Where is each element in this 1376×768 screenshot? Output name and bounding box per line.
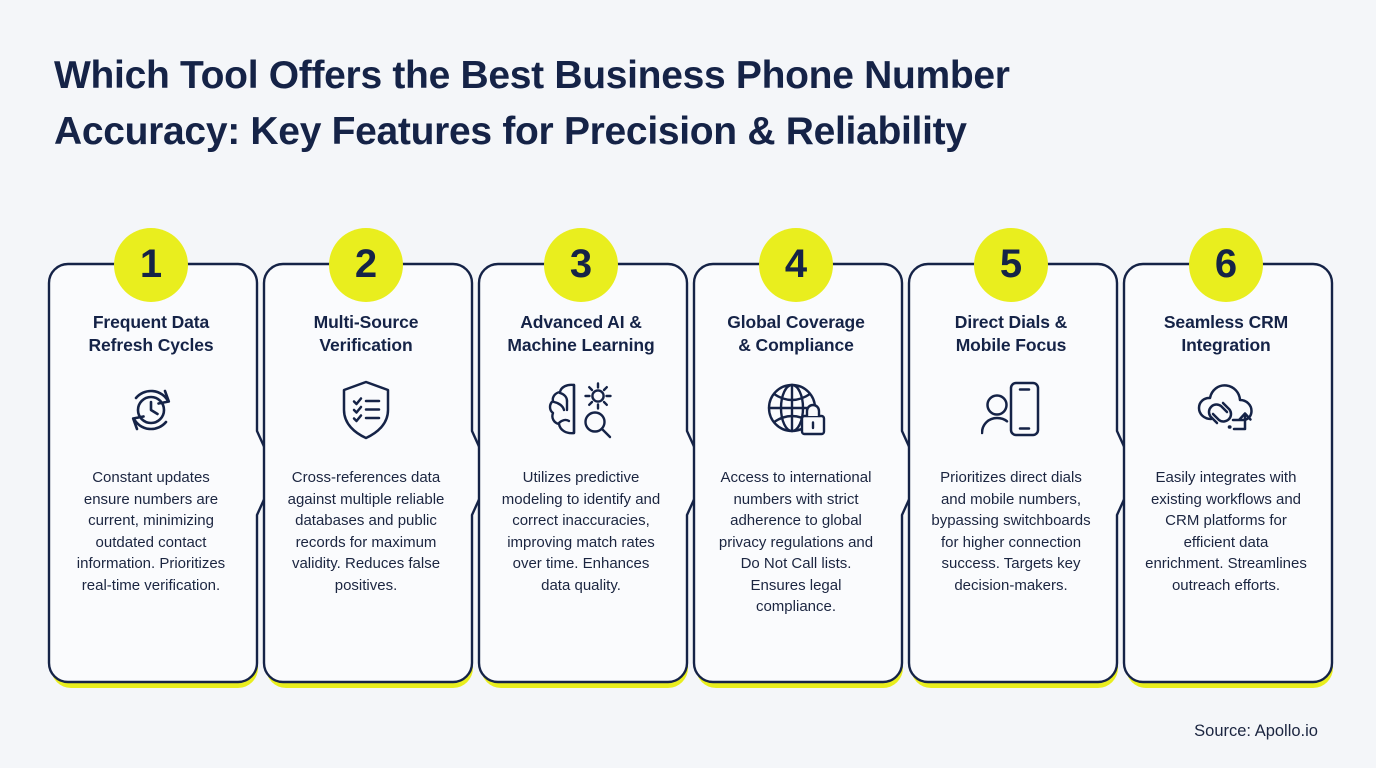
card-description: Utilizes predictive modeling to identify… — [498, 467, 664, 596]
feature-card-row: Frequent Data Refresh Cycles Constant up… — [48, 263, 1329, 683]
card-number: 1 — [140, 244, 162, 284]
brain-gear-search-icon — [547, 379, 615, 441]
card-number-badge: 6 — [1189, 228, 1263, 302]
card-title-line-1: Direct Dials & — [955, 312, 1067, 332]
card-title-line-2: Refresh Cycles — [88, 335, 213, 355]
card-description: Prioritizes direct dials and mobile numb… — [928, 467, 1094, 596]
card-description: Constant updates ensure numbers are curr… — [68, 467, 234, 596]
card-title-line-2: & Compliance — [738, 335, 854, 355]
person-smartphone-icon — [981, 379, 1041, 441]
card-title: Multi-Source Verification — [314, 311, 419, 357]
feature-card-2[interactable]: Multi-Source Verification Cross-referenc… — [263, 263, 469, 683]
card-title-line-2: Mobile Focus — [956, 335, 1067, 355]
clock-refresh-icon — [120, 379, 182, 441]
globe-lock-icon — [764, 379, 828, 441]
card-number-badge: 4 — [759, 228, 833, 302]
feature-card-6[interactable]: Seamless CRM Integration Easily integrat… — [1123, 263, 1329, 683]
feature-card-4[interactable]: Global Coverage & Compliance Access t — [693, 263, 899, 683]
card-title-line-1: Seamless CRM — [1164, 312, 1288, 332]
source-attribution: Source: Apollo.io — [1194, 722, 1318, 741]
card-title-line-1: Advanced AI & — [520, 312, 642, 332]
feature-card-3[interactable]: Advanced AI & Machine Learning — [478, 263, 684, 683]
card-description: Cross-references data against multiple r… — [283, 467, 449, 596]
card-title-line-1: Global Coverage — [727, 312, 865, 332]
card-number: 4 — [785, 244, 807, 284]
card-title-line-2: Machine Learning — [507, 335, 654, 355]
card-title: Frequent Data Refresh Cycles — [88, 311, 213, 357]
card-title: Seamless CRM Integration — [1164, 311, 1288, 357]
card-description: Access to international numbers with str… — [713, 467, 879, 618]
card-number: 5 — [1000, 244, 1022, 284]
card-number-badge: 1 — [114, 228, 188, 302]
page-title-line-2: Accuracy: Key Features for Precision & R… — [54, 104, 1274, 160]
feature-card-1[interactable]: Frequent Data Refresh Cycles Constant up… — [48, 263, 254, 683]
card-number-badge: 2 — [329, 228, 403, 302]
shield-checklist-icon — [339, 379, 393, 441]
page-title: Which Tool Offers the Best Business Phon… — [54, 48, 1274, 160]
card-number: 2 — [355, 244, 377, 284]
card-title: Direct Dials & Mobile Focus — [955, 311, 1067, 357]
card-description: Easily integrates with existing workflow… — [1143, 467, 1309, 596]
card-title-line-1: Frequent Data — [93, 312, 209, 332]
cloud-link-upload-icon — [1193, 379, 1259, 441]
card-title-line-2: Integration — [1181, 335, 1270, 355]
feature-card-5[interactable]: Direct Dials & Mobile Focus Prioritizes … — [908, 263, 1114, 683]
card-title-line-1: Multi-Source — [314, 312, 419, 332]
card-number: 3 — [570, 244, 592, 284]
page-title-line-1: Which Tool Offers the Best Business Phon… — [54, 48, 1274, 104]
card-title: Advanced AI & Machine Learning — [507, 311, 654, 357]
card-title: Global Coverage & Compliance — [727, 311, 865, 357]
card-number-badge: 5 — [974, 228, 1048, 302]
card-number-badge: 3 — [544, 228, 618, 302]
card-title-line-2: Verification — [319, 335, 412, 355]
card-number: 6 — [1215, 244, 1237, 284]
